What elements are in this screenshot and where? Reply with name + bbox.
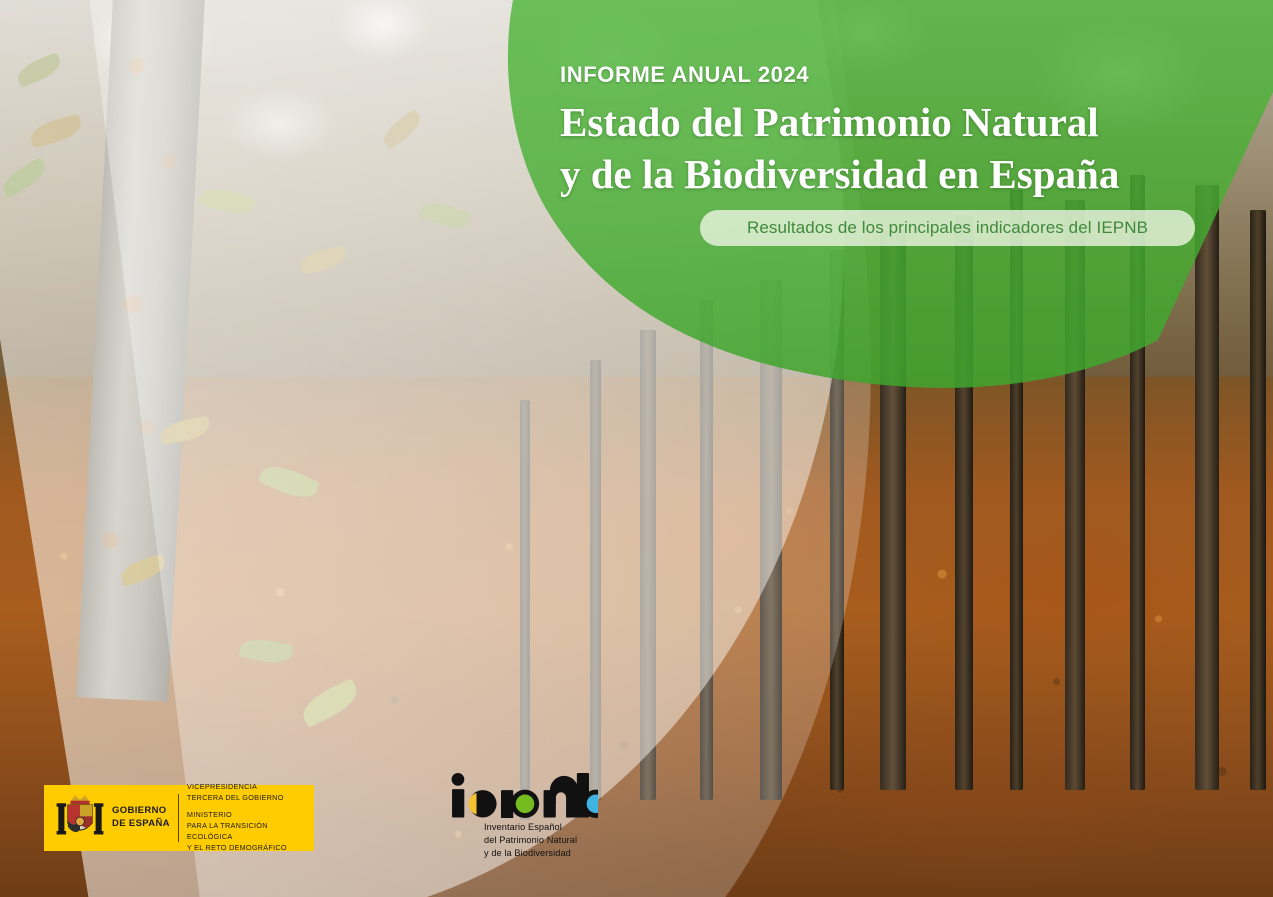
report-cover: INFORME ANUAL 2024 Estado del Patrimonio… xyxy=(0,0,1273,897)
vicepresidency-line-2: TERCERA DEL GOBIERNO xyxy=(187,793,314,804)
report-title-line-1: Estado del Patrimonio Natural xyxy=(560,96,1220,148)
government-name-line-2: DE ESPAÑA xyxy=(112,818,170,831)
logo-divider xyxy=(178,794,179,842)
vicepresidency-line-1: VICEPRESIDENCIA xyxy=(187,782,314,793)
tree-trunk xyxy=(830,250,844,790)
government-name: GOBIERNO DE ESPAÑA xyxy=(112,805,170,831)
iepnb-tagline-line-2: del Patrimonio Natural xyxy=(484,834,610,847)
tree-trunk xyxy=(590,360,601,800)
iepnb-tagline-line-1: Inventario Español xyxy=(484,821,610,834)
iepnb-tagline-line-3: y de la Biodiversidad xyxy=(484,847,610,860)
title-block: INFORME ANUAL 2024 Estado del Patrimonio… xyxy=(560,62,1220,201)
tree-trunk xyxy=(1250,210,1266,790)
coat-of-arms-of-spain-icon xyxy=(54,792,106,844)
subtitle-pill: Resultados de los principales indicadore… xyxy=(700,210,1195,246)
ministry-block: VICEPRESIDENCIA TERCERA DEL GOBIERNO MIN… xyxy=(187,782,314,854)
ministry-line-1: MINISTERIO xyxy=(187,810,314,821)
report-kicker: INFORME ANUAL 2024 xyxy=(560,62,1220,88)
report-subtitle: Resultados de los principales indicadore… xyxy=(747,218,1148,238)
tree-trunk xyxy=(880,230,906,790)
tree-trunk xyxy=(955,215,973,790)
government-logo-bar: GOBIERNO DE ESPAÑA VICEPRESIDENCIA TERCE… xyxy=(44,785,314,851)
tree-trunk xyxy=(1195,185,1219,790)
tree-trunk xyxy=(640,330,656,800)
tree-trunk xyxy=(520,400,530,820)
tree-trunk xyxy=(760,280,782,800)
tree-trunk xyxy=(1010,190,1023,790)
iepnb-logo: Inventario Español del Patrimonio Natura… xyxy=(450,772,610,860)
ministry-line-2: PARA LA TRANSICIÓN ECOLÓGICA xyxy=(187,821,314,843)
tree-trunk xyxy=(1130,175,1145,790)
report-title-line-2: y de la Biodiversidad en España xyxy=(560,148,1220,200)
government-name-line-1: GOBIERNO xyxy=(112,805,170,818)
iepnb-wordmark-icon xyxy=(450,772,598,818)
tree-trunk xyxy=(700,300,713,800)
ministry-line-3: Y EL RETO DEMOGRÁFICO xyxy=(187,843,314,854)
tree-trunk xyxy=(1065,200,1085,790)
iepnb-tagline: Inventario Español del Patrimonio Natura… xyxy=(484,821,610,860)
